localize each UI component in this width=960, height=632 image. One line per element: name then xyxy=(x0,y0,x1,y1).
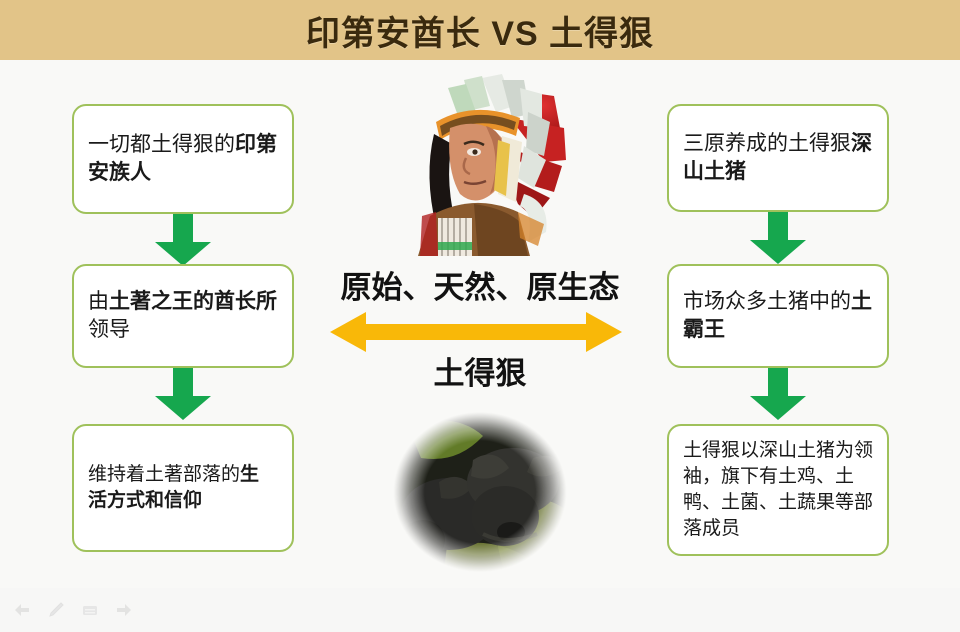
slide-stage: 印第安酋长 VS 土得狠 一切都土得狠的印第安族人 由土著之王的酋长所领导 维持… xyxy=(0,0,960,632)
left-box-2-text: 由土著之王的酋长所领导 xyxy=(88,288,278,343)
native-american-chief-illustration xyxy=(378,66,574,256)
breastplate xyxy=(438,218,472,256)
center-top-text: 原始、天然、原生态 xyxy=(300,262,660,307)
back-arrow-icon[interactable] xyxy=(12,600,32,620)
double-horizontal-arrow-icon xyxy=(330,312,622,352)
center-bottom-text: 土得狠 xyxy=(300,348,660,393)
arrow-head xyxy=(750,396,806,420)
left-connector-arrow-1 xyxy=(155,214,211,266)
black-pigs-photo xyxy=(387,406,573,578)
right-box-1-text: 三原养成的土得狠深山土猪 xyxy=(683,130,873,185)
right-box-2-text: 市场众多土猪中的土霸王 xyxy=(683,288,873,343)
arrow-left-head xyxy=(330,312,366,352)
arrow-head xyxy=(155,242,211,266)
right-connector-arrow-1 xyxy=(750,212,806,264)
left-box-1: 一切都土得狠的印第安族人 xyxy=(72,104,294,214)
left-box-2-plain1: 由 xyxy=(88,290,109,313)
right-box-2-plain1: 市场众多土猪中的 xyxy=(683,290,851,313)
left-box-2-bold: 土著之王的酋长所 xyxy=(109,290,277,313)
arrow-shaft xyxy=(173,368,193,398)
arrow-shaft xyxy=(768,368,788,398)
left-box-3-text: 维持着土著部落的生活方式和信仰 xyxy=(88,462,278,514)
right-box-1-plain1: 三原养成的土得狠 xyxy=(683,132,851,155)
header-bar: 印第安酋长 VS 土得狠 xyxy=(0,0,960,60)
list-icon[interactable] xyxy=(80,600,100,620)
pencil-icon[interactable] xyxy=(46,600,66,620)
arrow-shaft xyxy=(173,214,193,244)
right-box-3: 土得狠以深山土猪为领袖，旗下有土鸡、土鸭、土菌、土蔬果等部落成员 xyxy=(667,424,889,556)
arrow-head xyxy=(155,396,211,420)
left-box-3: 维持着土著部落的生活方式和信仰 xyxy=(72,424,294,552)
left-connector-arrow-2 xyxy=(155,368,211,420)
right-connector-arrow-2 xyxy=(750,368,806,420)
forward-arrow-icon[interactable] xyxy=(114,600,134,620)
arrow-shaft xyxy=(768,212,788,242)
arrow-head xyxy=(750,240,806,264)
left-box-1-plain1: 一切都土得狠的 xyxy=(88,133,235,156)
right-box-3-plain1: 土得狠以深山土猪为领袖，旗下有土鸡、土鸭、土菌、土蔬果等部落成员 xyxy=(683,440,873,538)
page-title: 印第安酋长 VS 土得狠 xyxy=(306,6,654,55)
arrow-bar xyxy=(364,324,588,340)
arrow-right-head xyxy=(586,312,622,352)
right-box-1: 三原养成的土得狠深山土猪 xyxy=(667,104,889,212)
chief-svg xyxy=(378,66,574,256)
left-box-1-text: 一切都土得狠的印第安族人 xyxy=(88,131,278,186)
pigs-svg xyxy=(387,406,573,578)
right-box-3-text: 土得狠以深山土猪为领袖，旗下有土鸡、土鸭、土菌、土蔬果等部落成员 xyxy=(683,438,873,541)
left-box-2: 由土著之王的酋长所领导 xyxy=(72,264,294,368)
right-box-2: 市场众多土猪中的土霸王 xyxy=(667,264,889,368)
left-box-3-plain1: 维持着土著部落的 xyxy=(88,464,240,485)
bottom-toolbar xyxy=(0,588,960,632)
left-box-2-plain2: 领导 xyxy=(88,318,130,341)
